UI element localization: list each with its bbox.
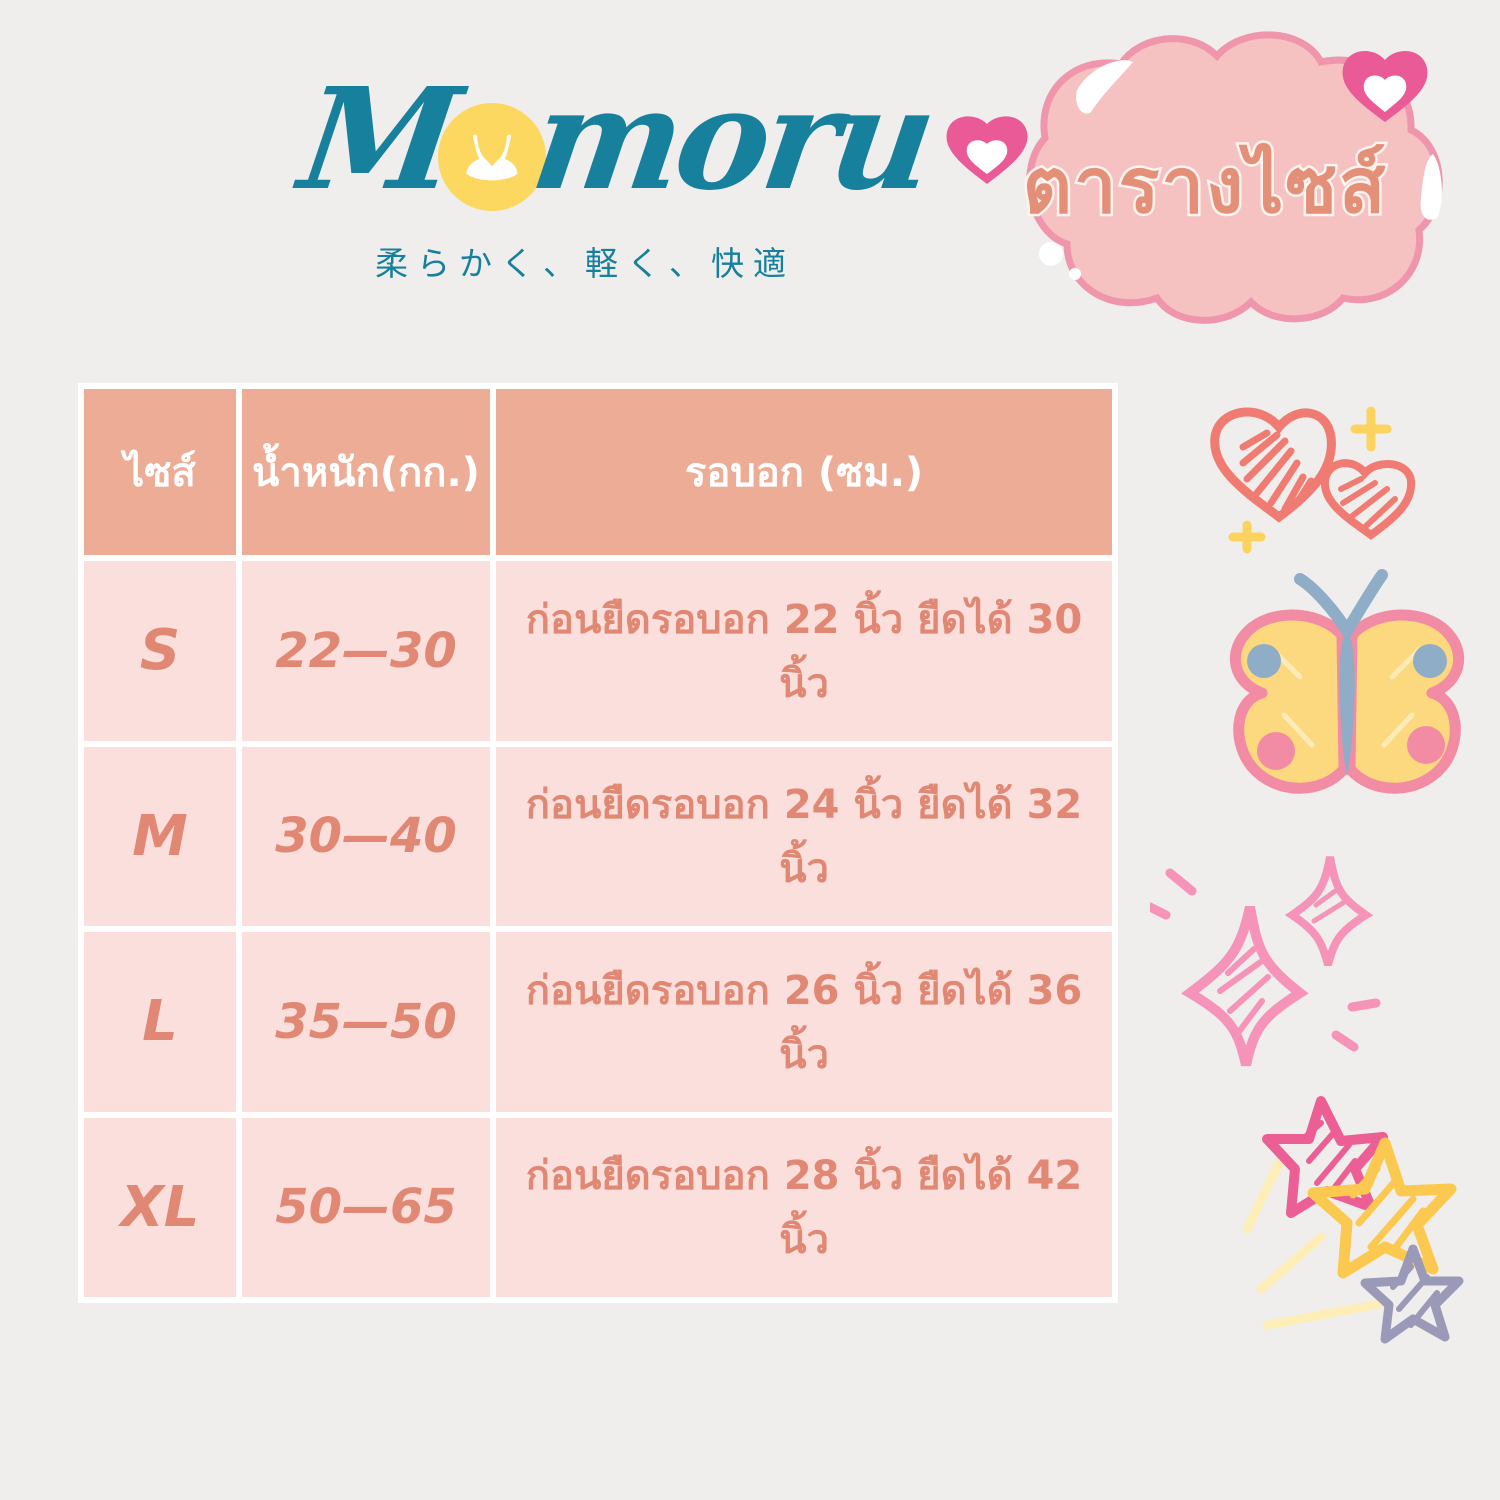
badge-title: ตารางไซส์ [925,126,1485,246]
wing-dot [1407,726,1445,764]
wing-dot [1257,732,1295,770]
size-chart-badge: ตารางไซส์ [925,18,1485,338]
logo-wordmark: M moru [295,45,875,235]
cell-size: S [84,561,236,741]
cell-weight: 50—65 [242,1118,490,1298]
logo-tagline: 柔らかく、軽く、快適 [295,237,875,285]
table-header-row: ไซส์ น้ำหนัก(กก.) รอบอก (ซม.) [84,389,1112,555]
table-row: S 22—30 ก่อนยืดรอบอก 22 นิ้ว ยืดได้ 30 น… [84,561,1112,741]
logo-text-part-a: M [290,45,466,235]
wing-dot [1413,644,1447,678]
cell-weight: 35—50 [242,932,490,1112]
size-chart-page: M moru 柔らかく、軽く、快適 [0,0,1500,1500]
table-row: M 30—40 ก่อนยืดรอบอก 24 นิ้ว ยืดได้ 32 น… [84,747,1112,927]
sparkles-doodle [1150,845,1485,1090]
cell-bust: ก่อนยืดรอบอก 26 นิ้ว ยืดได้ 36 นิ้ว [496,932,1112,1112]
cell-bust: ก่อนยืดรอบอก 24 นิ้ว ยืดได้ 32 นิ้ว [496,747,1112,927]
cell-bust: ก่อนยืดรอบอก 28 นิ้ว ยืดได้ 42 นิ้ว [496,1118,1112,1298]
cell-size: L [84,932,236,1112]
cell-weight: 30—40 [242,747,490,927]
header-cell-size: ไซส์ [84,389,236,555]
header-cell-bust: รอบอก (ซม.) [496,389,1112,555]
brand-logo: M moru 柔らかく、軽く、快適 [295,45,875,305]
cell-weight: 22—30 [242,561,490,741]
butterfly-doodle [1200,565,1495,830]
table-row: L 35—50 ก่อนยืดรอบอก 26 นิ้ว ยืดได้ 36 น… [84,932,1112,1112]
logo-text-part-b: moru [522,45,942,235]
header-cell-weight: น้ำหนัก(กก.) [242,389,490,555]
table-row: XL 50—65 ก่อนยืดรอบอก 28 นิ้ว ยืดได้ 42 … [84,1118,1112,1298]
wing-dot [1247,644,1281,678]
size-table: ไซส์ น้ำหนัก(กก.) รอบอก (ซม.) S 22—30 ก่… [78,383,1118,1303]
stars-doodle [1225,1095,1500,1345]
cell-size: M [84,747,236,927]
hearts-doodle [1185,385,1485,560]
bra-icon [458,123,526,191]
cell-size: XL [84,1118,236,1298]
cell-bust: ก่อนยืดรอบอก 22 นิ้ว ยืดได้ 30 นิ้ว [496,561,1112,741]
